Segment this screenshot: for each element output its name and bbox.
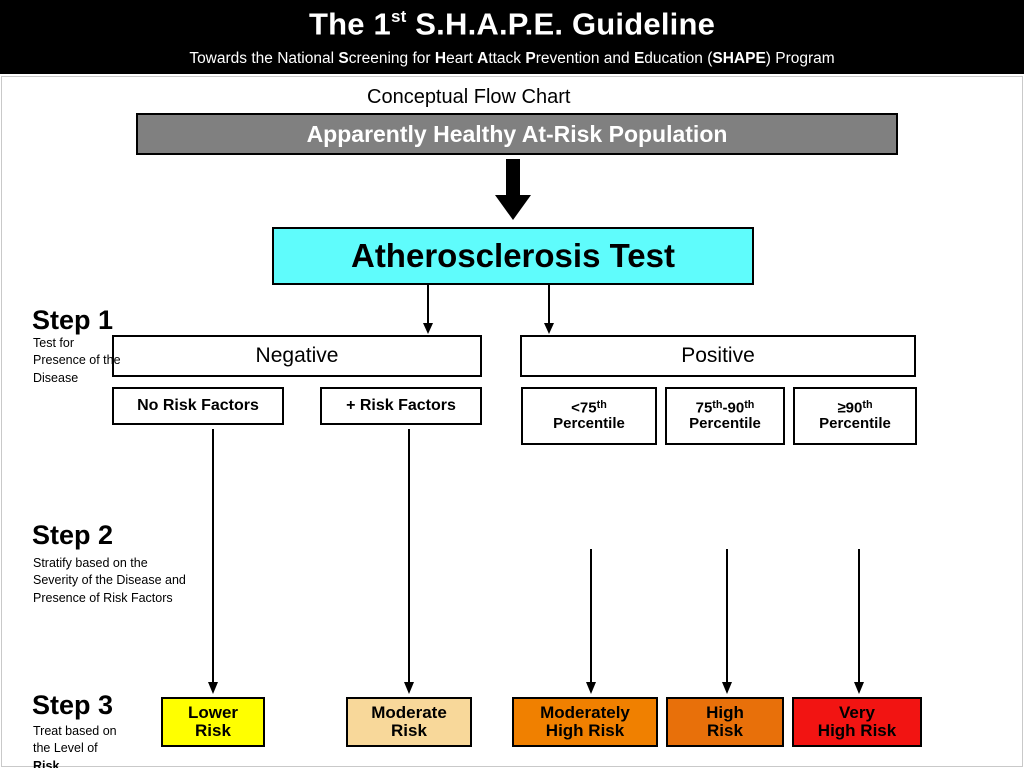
arrow-plus-risk-factors-to-moderate-risk	[403, 429, 415, 695]
node-positive-label: Positive	[681, 345, 755, 368]
title-superscript: st	[391, 7, 407, 26]
arrow-population-to-test	[491, 159, 535, 221]
page-subtitle: Towards the National Screening for Heart…	[0, 39, 1024, 67]
node-moderate-risk-line2: Risk	[391, 722, 427, 740]
node-no-risk-factors-label: No Risk Factors	[137, 397, 259, 414]
node-very-high-risk: Very High Risk	[792, 697, 922, 747]
node-very-high-risk-line1: Very	[839, 704, 875, 722]
arrow-percentile-ge90-to-very-high-risk	[853, 549, 865, 695]
node-lower-risk-line2: Risk	[195, 722, 231, 740]
step-3-description: Treat based onthe Level ofRisk	[33, 723, 117, 768]
node-percentile-lt75-line2: Percentile	[553, 416, 625, 432]
node-high-risk-line2: Risk	[707, 722, 743, 740]
step-2-desc-line-3: Presence of Risk Factors	[33, 590, 186, 607]
page-title: The 1st S.H.A.P.E. Guideline	[0, 0, 1024, 39]
node-percentile-lt75-line1: <75th	[571, 400, 607, 417]
flowchart-page: The 1st S.H.A.P.E. Guideline Towards the…	[0, 0, 1024, 768]
node-very-high-risk-line2: High Risk	[818, 722, 896, 740]
node-high-risk-line1: High	[706, 704, 744, 722]
step-2-desc-line-1: Stratify based on the	[33, 555, 186, 572]
step-3-desc-line-1: Treat based on	[33, 723, 117, 740]
node-moderately-high-risk-line1: Moderately	[540, 704, 630, 722]
node-positive: Positive	[520, 335, 916, 377]
arrow-no-risk-factors-to-lower-risk	[207, 429, 219, 695]
node-plus-risk-factors: + Risk Factors	[320, 387, 482, 425]
node-population-label: Apparently Healthy At-Risk Population	[307, 122, 728, 147]
header-banner: The 1st S.H.A.P.E. Guideline Towards the…	[0, 0, 1024, 74]
node-percentile-lt75: <75th Percentile	[521, 387, 657, 445]
title-pre: The 1	[309, 6, 391, 41]
node-moderately-high-risk-line2: High Risk	[546, 722, 624, 740]
chart-caption: Conceptual Flow Chart	[367, 86, 570, 109]
title-post: S.H.A.P.E. Guideline	[406, 6, 715, 41]
node-lower-risk: Lower Risk	[161, 697, 265, 747]
arrow-percentile-lt75-to-moderately-high-risk	[585, 549, 597, 695]
node-lower-risk-line1: Lower	[188, 704, 238, 722]
node-negative: Negative	[112, 335, 482, 377]
node-percentile-ge90-line1: ≥90th	[837, 400, 872, 417]
step-2-heading: Step 2	[32, 520, 113, 551]
node-percentile-ge90-line2: Percentile	[819, 416, 891, 432]
step-1-description: Test forPresence of theDisease	[33, 335, 121, 387]
step-3-heading: Step 3	[32, 690, 113, 721]
step-2-description: Stratify based on theSeverity of the Dis…	[33, 555, 186, 607]
arrow-test-to-negative	[422, 285, 434, 335]
chart-canvas: Conceptual Flow Chart Apparently Healthy…	[1, 76, 1023, 767]
node-moderately-high-risk: Moderately High Risk	[512, 697, 658, 747]
arrow-percentile-75-90-to-high-risk	[721, 549, 733, 695]
node-test-label: Atherosclerosis Test	[351, 238, 675, 274]
node-atherosclerosis-test: Atherosclerosis Test	[272, 227, 754, 285]
step-1-desc-line-1: Test for	[33, 335, 121, 352]
step-3-desc-line-2: the Level of	[33, 740, 117, 757]
node-high-risk: High Risk	[666, 697, 784, 747]
node-moderate-risk-line1: Moderate	[371, 704, 447, 722]
node-moderate-risk: Moderate Risk	[346, 697, 472, 747]
node-plus-risk-factors-label: + Risk Factors	[346, 397, 456, 414]
node-no-risk-factors: No Risk Factors	[112, 387, 284, 425]
step-1-desc-line-3: Disease	[33, 370, 121, 387]
step-3-desc-line-3: Risk	[33, 758, 117, 768]
node-percentile-75-90: 75th-90th Percentile	[665, 387, 785, 445]
step-1-desc-line-2: Presence of the	[33, 352, 121, 369]
step-1-heading: Step 1	[32, 305, 113, 336]
node-percentile-75-90-line2: Percentile	[689, 416, 761, 432]
node-population: Apparently Healthy At-Risk Population	[136, 113, 898, 155]
step-2-desc-line-2: Severity of the Disease and	[33, 572, 186, 589]
node-negative-label: Negative	[256, 345, 339, 368]
node-percentile-ge90: ≥90th Percentile	[793, 387, 917, 445]
arrow-test-to-positive	[543, 285, 555, 335]
node-percentile-75-90-line1: 75th-90th	[696, 400, 755, 417]
